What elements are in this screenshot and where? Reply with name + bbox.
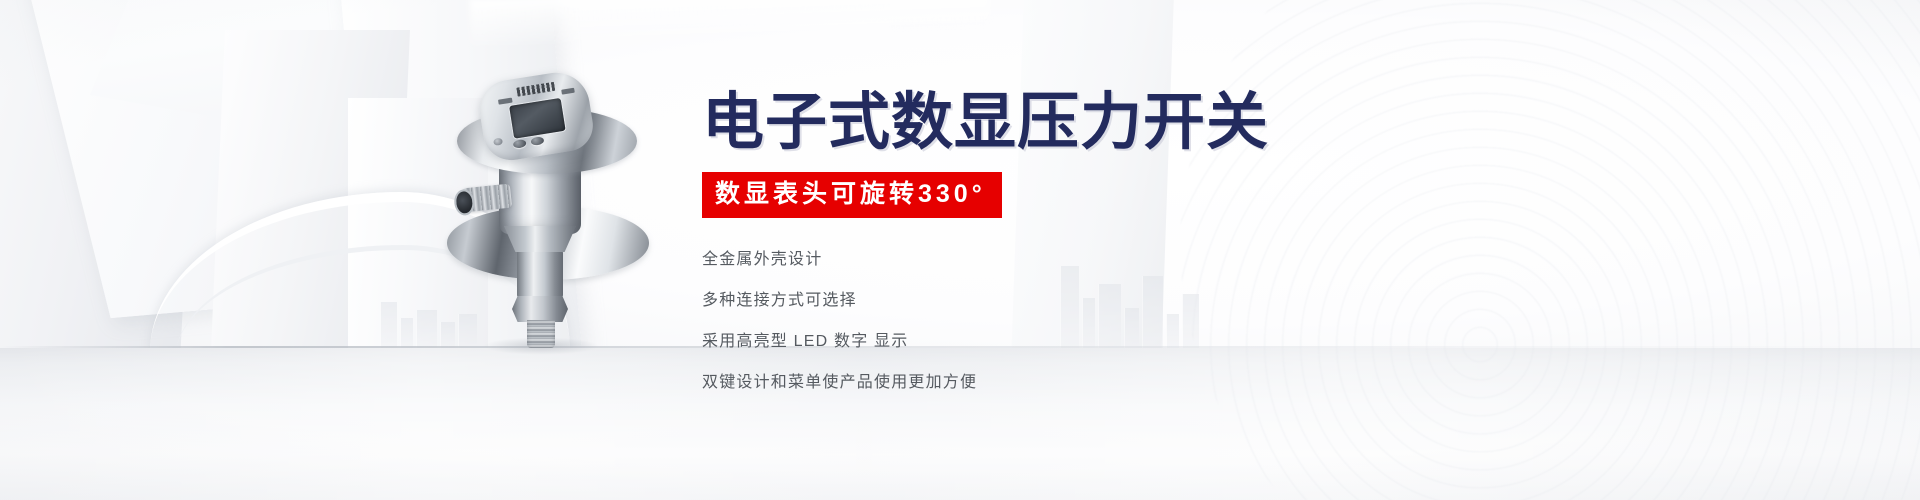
feature-item: 全金属外壳设计	[702, 252, 1462, 268]
product-lcd-screen	[509, 98, 566, 139]
feature-item: 双键设计和菜单使产品使用更加方便	[702, 375, 1462, 391]
product-button-2	[530, 136, 544, 146]
product-brand-mark	[516, 82, 555, 97]
banner-kicker-badge: 数显表头可旋转330°	[702, 172, 1002, 218]
product-hero-banner: 电子式数显压力开关 数显表头可旋转330° 全金属外壳设计 多种连接方式可选择 …	[0, 0, 1920, 500]
product-hex-nut	[512, 296, 568, 322]
feature-item: 采用高亮型 LED 数字 显示	[702, 334, 1462, 350]
product-image-digital-pressure-switch	[455, 58, 630, 348]
feature-list: 全金属外壳设计 多种连接方式可选择 采用高亮型 LED 数字 显示 双键设计和菜…	[702, 252, 1462, 391]
product-label-right	[561, 88, 575, 95]
banner-headline: 电子式数显压力开关	[702, 92, 1462, 154]
feature-item: 多种连接方式可选择	[702, 293, 1462, 309]
product-label-left	[498, 98, 513, 105]
product-threaded-connection	[527, 320, 555, 348]
product-status-led	[493, 138, 503, 146]
banner-copy: 电子式数显压力开关 数显表头可旋转330° 全金属外壳设计 多种连接方式可选择 …	[702, 92, 1462, 391]
product-neck	[517, 250, 563, 298]
m12-connector-icon	[462, 184, 512, 213]
product-button-1	[513, 139, 527, 149]
